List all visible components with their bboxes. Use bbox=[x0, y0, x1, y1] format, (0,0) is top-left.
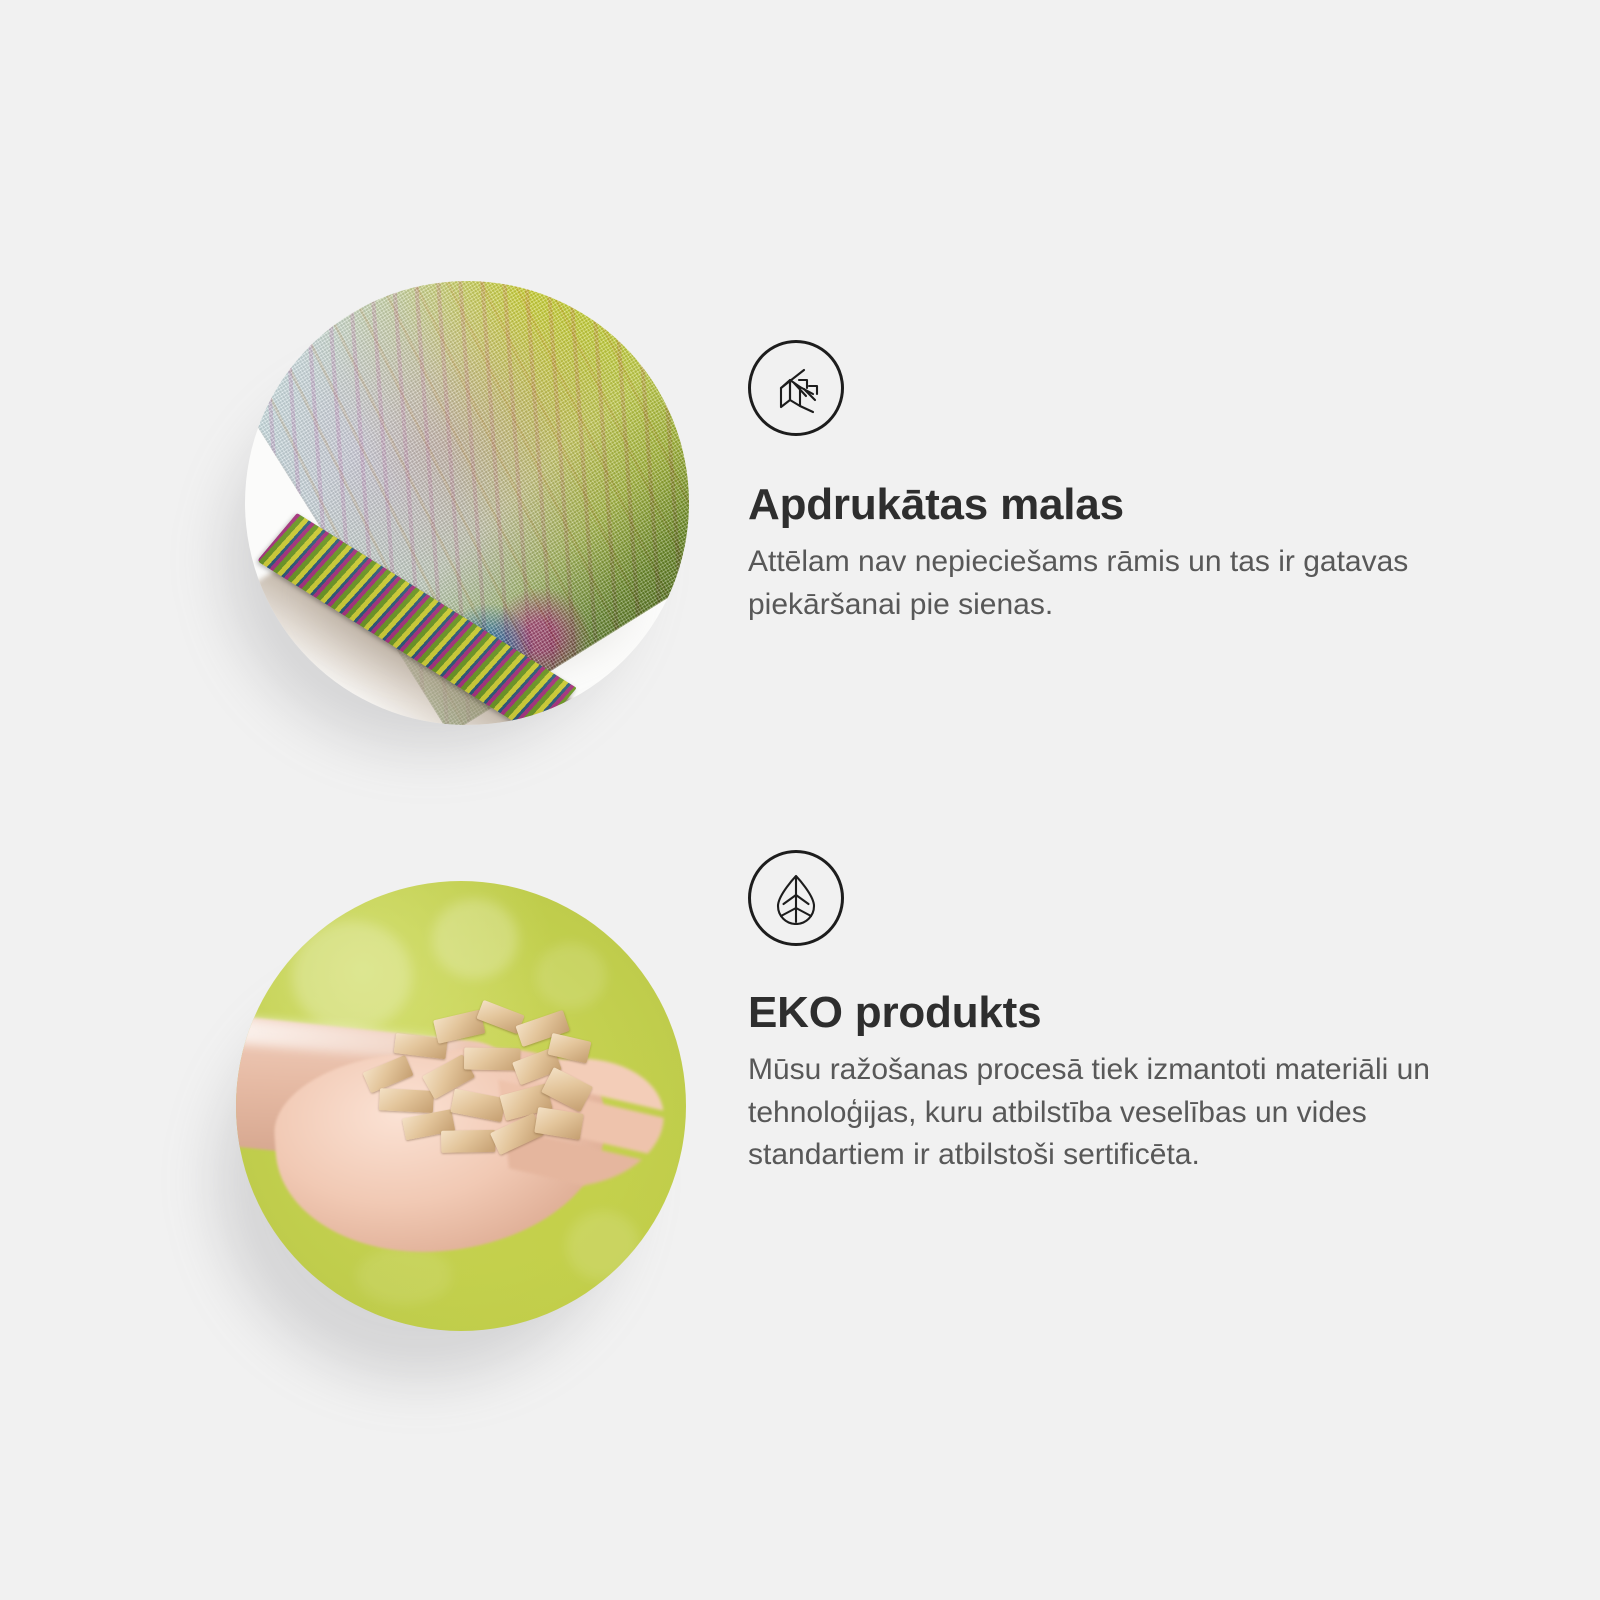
wood-chip bbox=[363, 1055, 414, 1093]
leaf-icon bbox=[748, 850, 844, 946]
wood-chip bbox=[450, 1089, 506, 1122]
wood-chip bbox=[464, 1047, 520, 1070]
feature-title-eco-product: EKO produkts bbox=[748, 988, 1488, 1037]
leaf-glyph bbox=[769, 871, 823, 925]
wood-chip bbox=[379, 1088, 434, 1113]
feature-eco-product: EKO produkts Mūsu ražošanas procesā tiek… bbox=[0, 830, 1600, 1430]
bokeh-blob bbox=[356, 1247, 452, 1305]
bokeh-blob bbox=[432, 899, 518, 979]
feature-copy-eco-product: EKO produkts Mūsu ražošanas procesā tiek… bbox=[748, 850, 1488, 1177]
product-features-page: Apdrukātas malas Attēlam nav nepieciešam… bbox=[0, 0, 1600, 1600]
wood-chip bbox=[441, 1130, 495, 1153]
feature-printed-edges: Apdrukātas malas Attēlam nav nepieciešam… bbox=[0, 240, 1600, 800]
feature-copy-printed-edges: Apdrukātas malas Attēlam nav nepieciešam… bbox=[748, 340, 1488, 626]
wood-chip-pile bbox=[350, 990, 613, 1171]
feature-description-printed-edges: Attēlam nav nepieciešams rāmis un tas ir… bbox=[748, 541, 1468, 626]
wood-chips-photo bbox=[236, 881, 686, 1331]
feature-description-eco-product: Mūsu ražošanas procesā tiek izmantoti ma… bbox=[748, 1049, 1468, 1177]
printed-edges-glyph bbox=[768, 360, 824, 416]
canvas-print-photo bbox=[245, 281, 689, 725]
bokeh-blob bbox=[566, 1211, 640, 1281]
printed-edges-icon bbox=[748, 340, 844, 436]
feature-title-printed-edges: Apdrukātas malas bbox=[748, 480, 1488, 529]
